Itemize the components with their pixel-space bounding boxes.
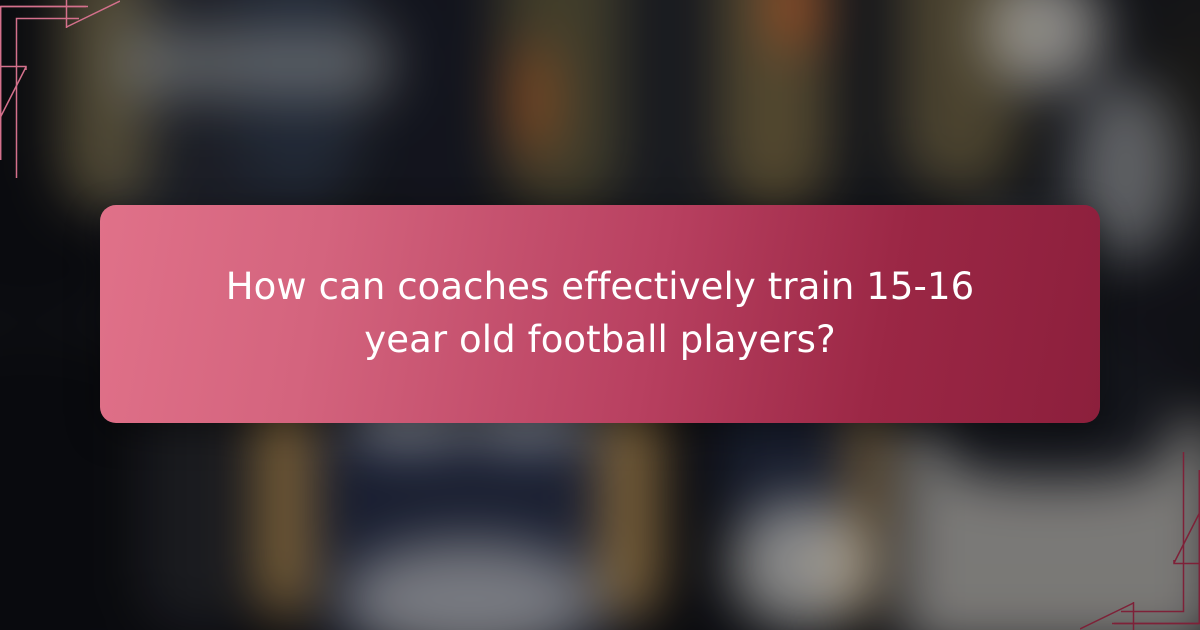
background-smear: [720, 0, 830, 210]
background-patch: [120, 28, 390, 98]
background-patch-orange: [515, 40, 551, 160]
question-title: How can coaches effectively train 15-16 …: [185, 261, 1015, 366]
background-patch: [730, 500, 870, 630]
question-card: How can coaches effectively train 15-16 …: [100, 205, 1100, 423]
share-card-canvas: How can coaches effectively train 15-16 …: [0, 0, 1200, 630]
